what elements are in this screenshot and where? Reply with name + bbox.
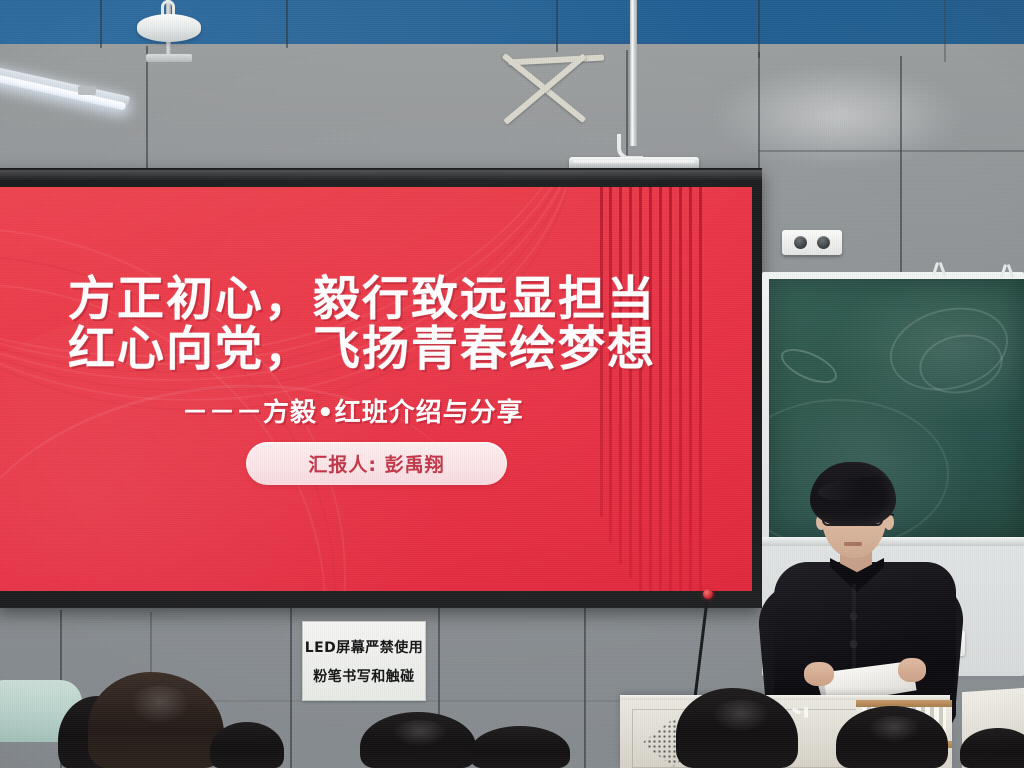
slide-text-block: 方正初心，毅行致远显担当 红心向党，飞扬青春绘梦想 －－－方毅•红班介绍与分享 … xyxy=(0,187,752,591)
tile-seam xyxy=(944,0,946,62)
slide-speaker-pill: 汇报人: 彭禹翔 xyxy=(246,442,507,485)
tile-seam xyxy=(758,150,1024,152)
slide-speaker-label: 汇报人: 彭禹翔 xyxy=(308,450,444,477)
presenter-hand-right xyxy=(898,658,926,682)
tile-seam xyxy=(584,606,586,768)
tile-seam xyxy=(290,608,292,768)
tile-seam xyxy=(146,46,148,172)
warning-sign-line-1: LED屏幕严禁使用 xyxy=(305,637,424,657)
jacket-button xyxy=(850,640,857,647)
presenter-hand-left xyxy=(804,662,834,686)
led-warning-sign: LED屏幕严禁使用 粉笔书写和触碰 xyxy=(302,621,426,701)
classroom-photo: 方正初心，毅行致远显担当 红心向党，飞扬青春绘梦想 －－－方毅•红班介绍与分享 … xyxy=(0,0,1024,768)
projector-mount-pole xyxy=(630,0,637,146)
ceiling-fan-mount xyxy=(137,14,201,42)
tile-seam xyxy=(286,0,288,48)
tile-seam xyxy=(900,56,902,278)
led-screen-frame: 方正初心，毅行致远显担当 红心向党，飞扬青春绘梦想 －－－方毅•红班介绍与分享 … xyxy=(0,168,762,608)
ceiling-mount-plate xyxy=(146,54,192,62)
slide-title-line-2: 红心向党，飞扬青春绘梦想 xyxy=(68,325,656,375)
chalkboard-clip-icon xyxy=(1000,264,1016,278)
power-outlet-box[interactable] xyxy=(782,230,842,255)
presenter-hair xyxy=(810,462,896,526)
outlet-socket-icon xyxy=(817,236,830,249)
chalkboard-clip-icon xyxy=(932,262,948,276)
slide-title-line-1: 方正初心，毅行致远显担当 xyxy=(68,275,656,325)
tile-seam xyxy=(100,0,102,48)
led-screen-display[interactable]: 方正初心，毅行致远显担当 红心向党，飞扬青春绘梦想 －－－方毅•红班介绍与分享 … xyxy=(0,187,752,591)
podium-mark xyxy=(804,707,808,718)
warning-sign-line-2: 粉笔书写和触碰 xyxy=(313,666,415,686)
outlet-socket-icon xyxy=(794,236,807,249)
presenter-mouth xyxy=(844,542,862,546)
tile-seam xyxy=(556,0,558,52)
tube-bracket xyxy=(78,86,96,95)
jacket-button xyxy=(850,612,857,619)
tile-seam xyxy=(758,0,760,58)
presenter xyxy=(758,462,968,722)
slide-subtitle: －－－方毅•红班介绍与分享 xyxy=(182,392,524,429)
microphone-tip-icon xyxy=(703,589,713,599)
